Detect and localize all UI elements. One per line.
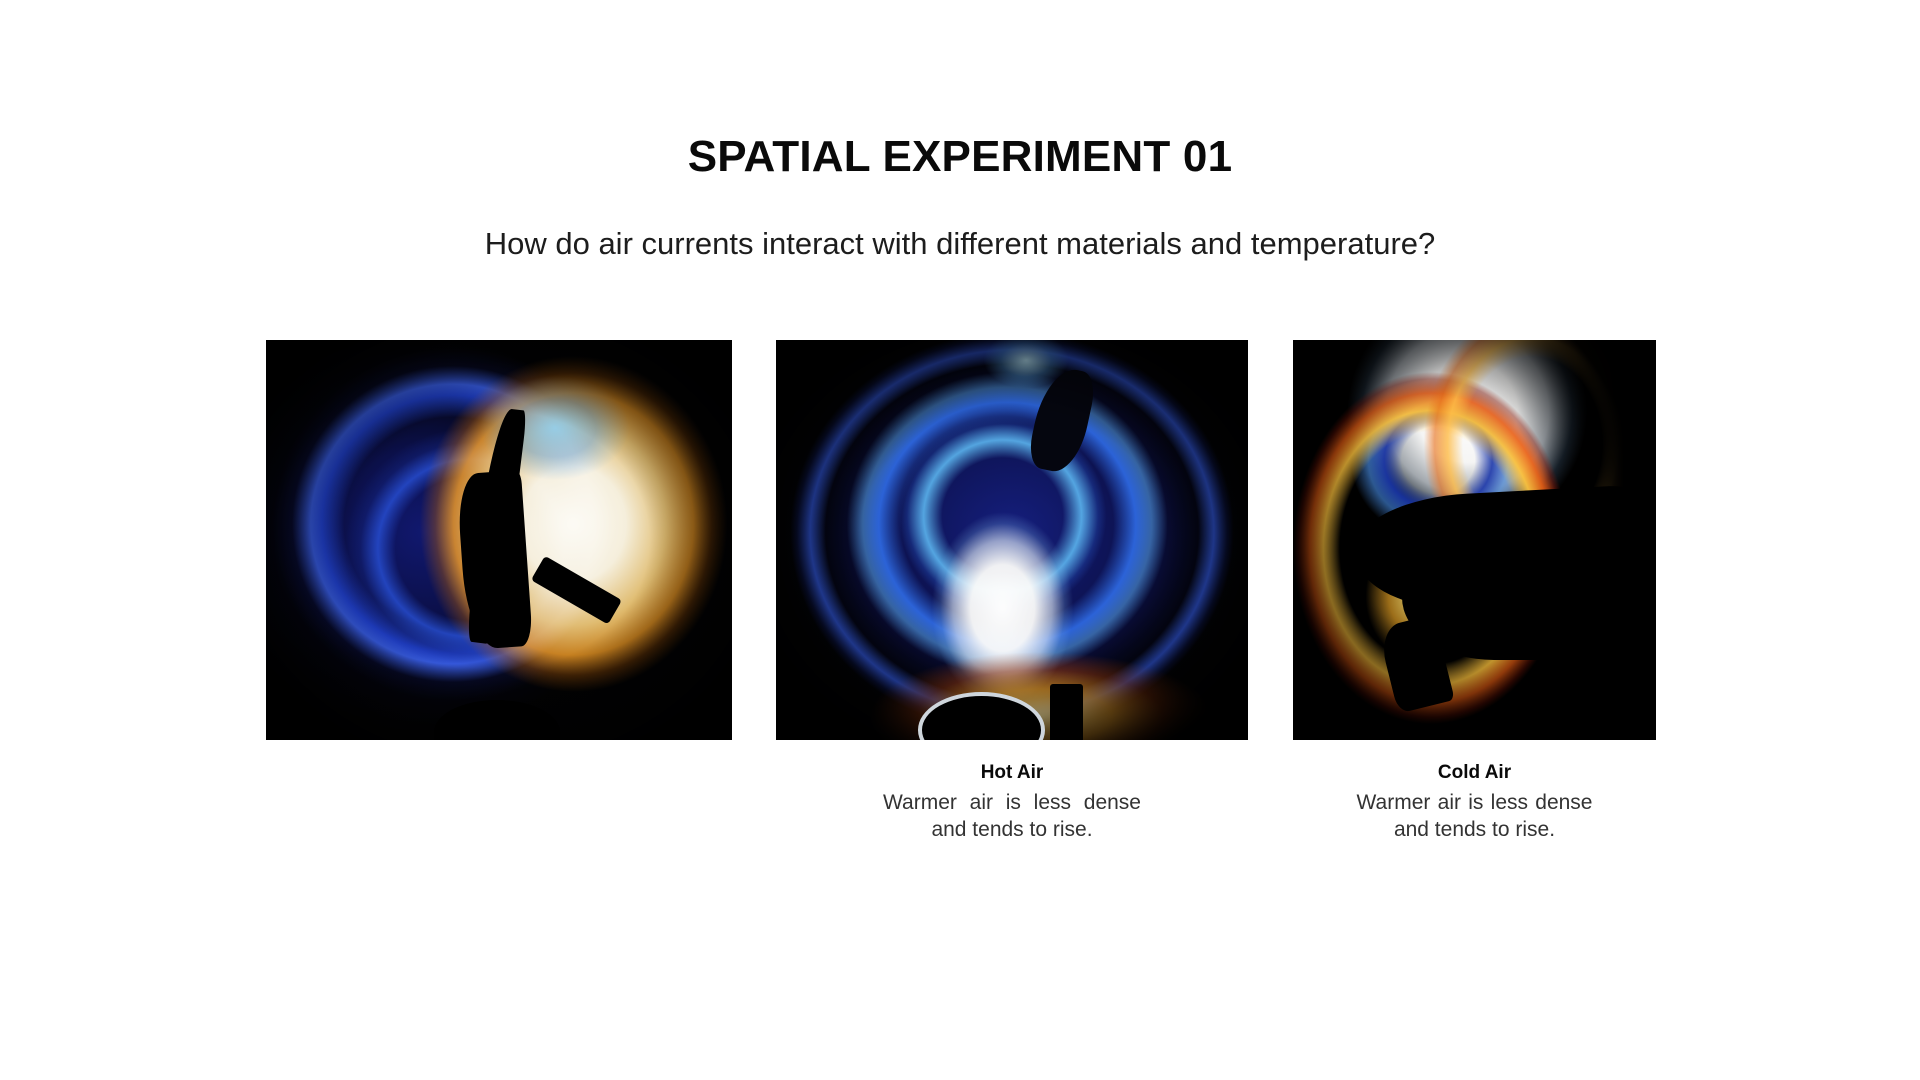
figure-row: Hot Air Warmer air is less dense and ten… bbox=[0, 0, 1920, 1080]
photo3-vignette bbox=[1293, 340, 1656, 740]
figure-1 bbox=[266, 340, 732, 740]
figure-3-caption-title: Cold Air bbox=[1293, 761, 1656, 785]
slide-canvas: SPATIAL EXPERIMENT 01 How do air current… bbox=[0, 0, 1920, 1080]
figure-3: Cold Air Warmer air is less dense and te… bbox=[1293, 340, 1656, 844]
photo2-vignette bbox=[776, 340, 1248, 740]
photo1-vignette bbox=[266, 340, 732, 740]
figure-2: Hot Air Warmer air is less dense and ten… bbox=[776, 340, 1248, 844]
schlieren-photo-3 bbox=[1293, 340, 1656, 740]
figure-3-caption-body: Warmer air is less dense and tends to ri… bbox=[1357, 789, 1593, 844]
schlieren-photo-2 bbox=[776, 340, 1248, 740]
figure-2-caption: Hot Air Warmer air is less dense and ten… bbox=[776, 740, 1248, 844]
figure-2-caption-title: Hot Air bbox=[776, 761, 1248, 785]
figure-3-caption: Cold Air Warmer air is less dense and te… bbox=[1293, 740, 1656, 844]
schlieren-photo-1 bbox=[266, 340, 732, 740]
figure-2-caption-body: Warmer air is less dense and tends to ri… bbox=[883, 789, 1141, 844]
photo2-heat-source bbox=[1050, 684, 1083, 740]
